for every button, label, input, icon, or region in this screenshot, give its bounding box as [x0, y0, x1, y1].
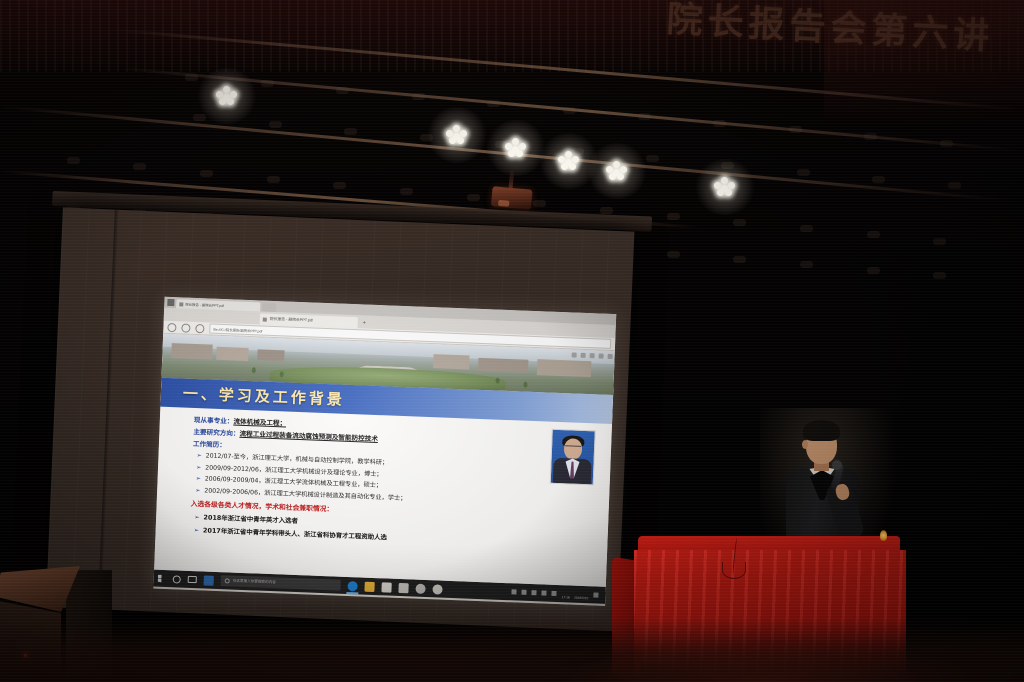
unlit-stage-light — [185, 74, 198, 81]
stage-light-led — [606, 166, 613, 173]
stage-light-led — [512, 138, 519, 145]
stage-light-led — [453, 133, 460, 140]
unlit-stage-light — [67, 157, 80, 164]
field-label: 主要研究方向： — [193, 428, 239, 438]
glasses-icon — [565, 445, 581, 450]
speaker-id-portrait — [550, 429, 596, 486]
unlit-stage-light — [733, 256, 746, 263]
unlit-stage-light — [467, 194, 480, 201]
unlit-stage-light — [267, 176, 280, 183]
taskbar-app-wps-office[interactable] — [432, 584, 442, 594]
unlit-stage-light — [646, 155, 659, 162]
search-icon — [225, 578, 230, 583]
ceiling-projector — [491, 180, 533, 209]
windows-start-icon[interactable] — [158, 574, 166, 582]
new-tab-button[interactable]: + — [360, 319, 369, 328]
zoom-icon[interactable] — [572, 352, 577, 357]
unlit-stage-light — [940, 140, 953, 147]
back-arrow-icon[interactable] — [167, 322, 176, 331]
taskbar-app-store[interactable] — [381, 582, 391, 592]
unlit-stage-light — [336, 87, 349, 94]
taskbar-app-media-player[interactable] — [415, 583, 425, 593]
search-placeholder: 在这里输入你要搜索的内容 — [233, 579, 276, 586]
presenter-hair — [803, 420, 840, 441]
stage-light-led — [453, 125, 460, 132]
campus-building — [478, 358, 528, 373]
presenter-ear — [802, 440, 808, 449]
floor-red-glow — [560, 642, 980, 682]
stage-light-led — [565, 151, 572, 158]
stage-light — [444, 124, 470, 146]
unlit-stage-light — [487, 100, 500, 107]
browser-tab-extra[interactable] — [262, 303, 276, 313]
print-icon[interactable] — [590, 353, 595, 358]
bullet-arrow-icon: ➢ — [194, 513, 200, 521]
slide-section-title: 一、学习及工作背景 — [183, 383, 346, 410]
unlit-stage-light — [261, 80, 274, 87]
pen-icon[interactable] — [512, 589, 517, 594]
stage-highlight — [880, 530, 887, 541]
stage-light-led — [223, 86, 230, 93]
tab-favicon-icon — [179, 302, 183, 306]
taskbar-clock[interactable]: 17:18 2019/5/15 — [562, 585, 589, 604]
browser-tab-1-title: 院长报告 - 副院长PPT.pdf — [185, 302, 224, 308]
taskbar-app-edge-browser[interactable] — [347, 581, 357, 591]
campus-tree — [523, 382, 527, 388]
campus-building — [216, 347, 248, 361]
more-icon[interactable] — [608, 354, 613, 359]
projector-lens-icon — [498, 200, 509, 207]
clock-date: 2019/5/15 — [574, 595, 588, 600]
input-method-icon[interactable] — [542, 590, 547, 595]
unlit-stage-light — [667, 213, 680, 220]
unlit-stage-light — [948, 182, 961, 189]
field-value: 流体机械及工程； — [233, 418, 286, 428]
unlit-stage-light — [133, 163, 146, 170]
stage-light-led — [216, 91, 223, 98]
bullet-arrow-icon: ➢ — [195, 487, 200, 494]
unlit-stage-light — [800, 261, 813, 268]
unlit-stage-light — [400, 188, 413, 195]
stage-light-led — [721, 177, 728, 184]
unlit-stage-light — [333, 182, 346, 189]
field-label: 工作简历： — [193, 440, 226, 449]
stage-light — [214, 85, 240, 107]
stage-light-led — [558, 156, 565, 163]
volume-icon[interactable] — [532, 590, 537, 595]
unlit-stage-light — [872, 176, 885, 183]
campus-tree — [252, 367, 256, 373]
unlit-stage-light — [867, 231, 880, 238]
fit-page-icon[interactable] — [581, 353, 586, 358]
unlit-stage-light — [733, 219, 746, 226]
projected-desktop: 院长报告 - 副院长PPT.pdf 院长报告 - 副院长PPT.pdf + — [153, 297, 616, 606]
stage-light — [556, 150, 582, 172]
bullet-arrow-icon: ➢ — [195, 475, 200, 482]
projector-body — [491, 186, 533, 209]
screen-surface: 院长报告 - 副院长PPT.pdf 院长报告 - 副院长PPT.pdf + — [46, 207, 635, 631]
taskbar-app-file-explorer[interactable] — [364, 581, 374, 591]
unlit-stage-light — [412, 93, 425, 100]
unlit-stage-light — [200, 170, 213, 177]
unlit-stage-light — [933, 238, 946, 245]
cortana-circle-icon[interactable] — [173, 575, 181, 583]
task-view-icon[interactable] — [188, 576, 197, 583]
slide-body: 现从事专业：流体机械及工程； 主要研究方向：流程工业过程装备流动腐蚀预测及智能防… — [154, 407, 612, 587]
campus-building — [433, 354, 470, 369]
tab2-favicon-icon — [263, 317, 267, 321]
stage-light — [604, 160, 630, 182]
unlit-stage-light — [563, 107, 576, 114]
hall-banner-text: 院长报告会第六讲 — [665, 0, 1023, 65]
taskbar-search-input[interactable]: 在这里输入你要搜索的内容 — [221, 575, 341, 591]
unlit-stage-light — [533, 200, 546, 207]
stage-light-led — [223, 94, 230, 101]
download-icon[interactable] — [599, 353, 604, 358]
stage-light — [503, 137, 529, 159]
stage-light-led — [505, 143, 512, 150]
network-icon[interactable] — [522, 590, 527, 595]
pinned-app-icon[interactable] — [204, 575, 214, 585]
unlit-stage-light — [789, 126, 802, 133]
campus-building — [171, 343, 212, 360]
stage-light-led — [728, 182, 735, 189]
field-label: 现从事专业： — [194, 416, 234, 426]
bullet-arrow-icon: ➢ — [196, 464, 201, 471]
stage-light-led — [714, 182, 721, 189]
refresh-icon[interactable] — [181, 323, 190, 332]
stage-light-led — [446, 130, 453, 137]
action-center-icon[interactable] — [593, 592, 598, 597]
stage-light-led — [613, 161, 620, 168]
browser-tab-2-title: 院长报告 - 副院长PPT.pdf — [270, 317, 313, 324]
unlit-stage-light — [638, 113, 651, 120]
campus-building — [537, 359, 592, 377]
stage-light-led — [565, 159, 572, 166]
stage-light-led — [721, 185, 728, 192]
stage-light — [712, 176, 738, 198]
unlit-stage-light — [800, 225, 813, 232]
bullet-arrow-icon: ➢ — [196, 452, 201, 459]
campus-tree — [279, 371, 283, 377]
campus-building — [257, 349, 285, 361]
stage-light-led — [620, 166, 627, 173]
bullet-arrow-icon: ➢ — [193, 526, 199, 534]
home-icon[interactable] — [195, 323, 204, 332]
unlit-stage-light — [344, 128, 357, 135]
stage-light-led — [572, 156, 579, 163]
table-cable-loop — [722, 562, 746, 579]
stage-light-led — [519, 143, 526, 150]
pdf-slide: 一、学习及工作背景 现从事专业：流体机械及工程； 主要研究方向：流程工业过程装备… — [154, 334, 615, 587]
stage-light-led — [613, 169, 620, 176]
honor-text: 2018年浙江省中青年英才入选者 — [203, 514, 298, 526]
battery-icon[interactable] — [552, 591, 557, 596]
clock-time: 17:18 — [562, 595, 570, 599]
unlit-stage-light — [933, 272, 946, 279]
unlit-stage-light — [867, 267, 880, 274]
stage-light-led — [512, 146, 519, 153]
unlit-stage-light — [797, 169, 810, 176]
stage-light-led — [230, 91, 237, 98]
stage-light-led — [460, 130, 467, 137]
window-system-icon — [167, 299, 174, 306]
auditorium-scene: 院长报告会第六讲 院长报告 - 副院长PPT.pdf — [0, 0, 1024, 682]
unlit-stage-light — [269, 121, 282, 128]
address-bar-url: file:///C:/院长报告/副院长PPT.pdf — [213, 326, 262, 333]
unlit-stage-light — [864, 133, 877, 140]
unlit-stage-light — [667, 251, 680, 258]
unlit-stage-light — [713, 120, 726, 127]
microphone-head-icon — [832, 460, 842, 470]
unlit-stage-light — [600, 207, 613, 214]
taskbar-app-mail[interactable] — [398, 582, 408, 592]
